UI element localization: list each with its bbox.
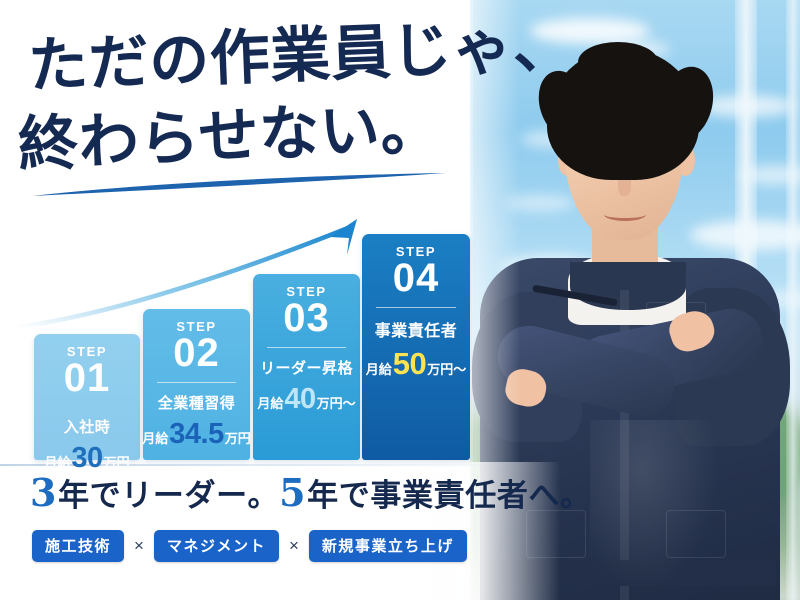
salary-prefix: 月給 [142,428,168,447]
badge-new-business[interactable]: 新規事業立ち上げ [309,530,467,562]
tagline-text-2: 年で事業責任者へ。 [307,470,592,515]
skill-badge-row: 施工技術 × マネジメント × 新規事業立ち上げ [32,530,467,562]
divider [157,382,236,383]
hair [578,42,658,82]
divider [376,307,456,308]
tagline-number-2: 5 [279,470,306,515]
step-number: 01 [64,357,111,399]
step-salary: 月給 30 万円 [44,444,129,473]
tagline: 3 年でリーダー。 5 年で事業責任者へ。 [30,470,592,515]
step-number: 04 [393,257,440,299]
divider [267,347,346,348]
badge-construction-skill[interactable]: 施工技術 [32,530,124,562]
salary-prefix: 月給 [366,359,392,378]
step-number: 03 [283,297,330,339]
badge-management[interactable]: マネジメント [154,530,279,562]
tagline-text-1: 年でリーダー。 [58,470,279,515]
step-role: 全業種習得 [158,392,236,413]
salary-unit: 万円 [317,393,343,412]
step-bar-02[interactable]: STEP 02 全業種習得 月給 34.5 万円 [143,309,250,460]
step-bar-04[interactable]: STEP 04 事業責任者 月給 50 万円 〜 [362,234,470,460]
advertisement-poster: ただの作業員じゃ、 終わらせない。 STEP 01 入社時 月給 30 万円 [0,0,800,600]
cross-separator-icon: × [134,536,144,556]
salary-amount: 50 [393,348,426,379]
salary-prefix: 月給 [44,452,70,471]
salary-prefix: 月給 [257,393,283,412]
step-bar-01[interactable]: STEP 01 入社時 月給 30 万円 [34,334,140,460]
step-salary: 月給 40 万円 〜 [257,385,355,414]
salary-suffix: 〜 [453,359,466,378]
salary-unit: 万円 [225,428,251,447]
career-step-chart: STEP 01 入社時 月給 30 万円 STEP 02 全業種習得 月給 34… [0,0,470,460]
step-role: 事業責任者 [375,317,458,341]
cross-separator-icon: × [289,536,299,556]
step-role: 入社時 [64,416,111,437]
fabric-highlight [590,420,720,590]
salary-unit: 万円 [427,359,453,378]
step-bar-03[interactable]: STEP 03 リーダー昇格 月給 40 万円 〜 [253,274,360,460]
salary-amount: 34.5 [169,420,223,449]
step-salary: 月給 50 万円 〜 [366,348,467,379]
salary-amount: 30 [71,444,102,473]
salary-amount: 40 [284,385,315,414]
step-salary: 月給 34.5 万円 [142,420,250,449]
salary-suffix: 〜 [343,393,356,412]
mouth [604,208,646,221]
tagline-number-1: 3 [30,470,57,515]
step-number: 02 [173,332,220,374]
step-role: リーダー昇格 [260,357,353,378]
salary-unit: 万円 [104,452,130,471]
